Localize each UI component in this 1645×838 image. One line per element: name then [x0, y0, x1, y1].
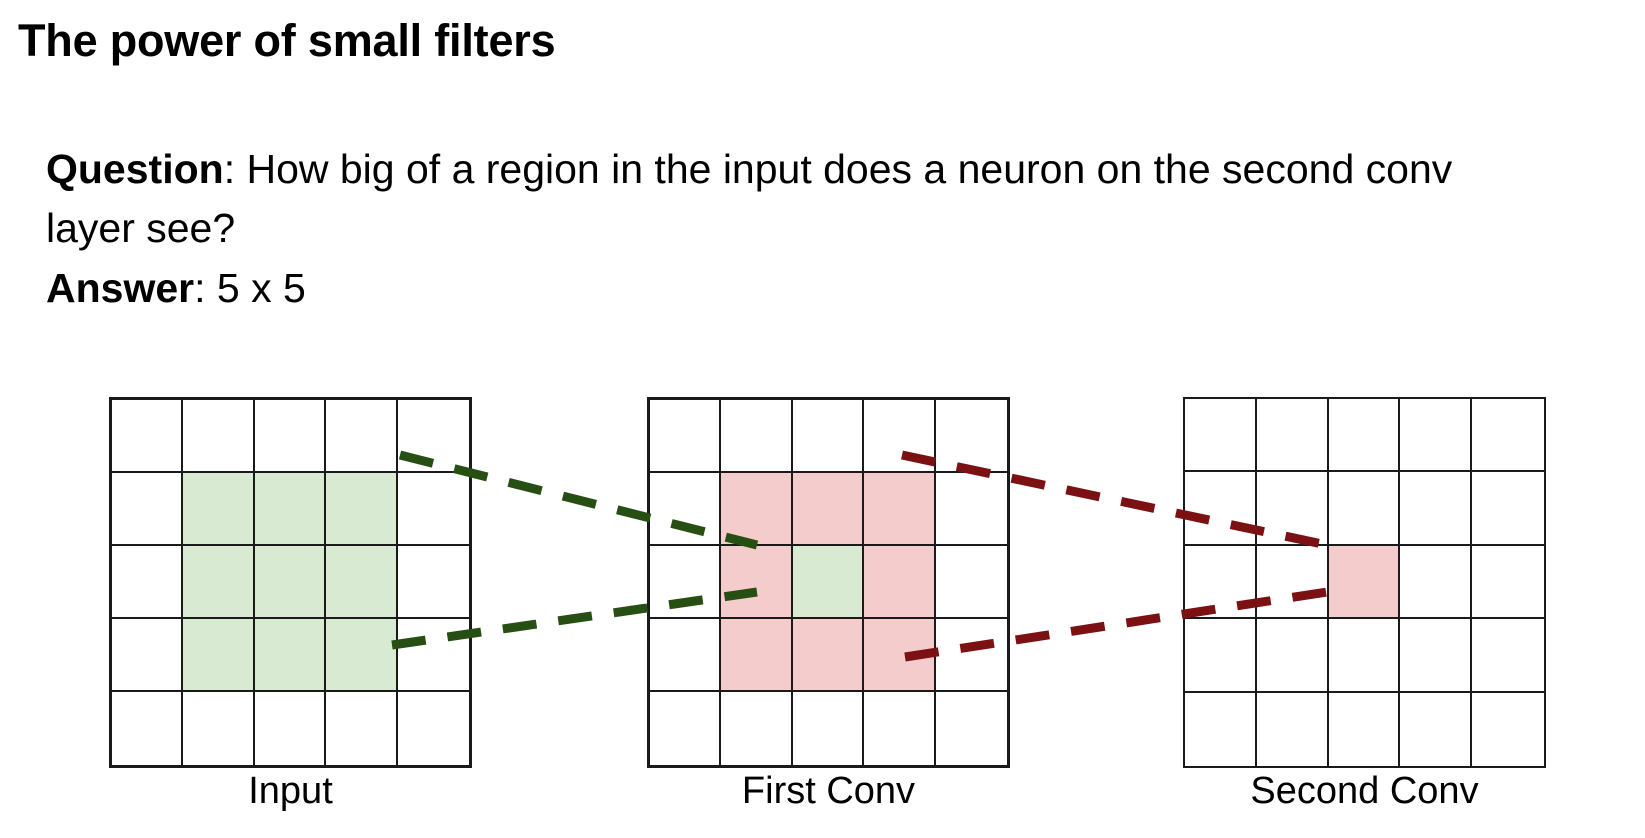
grid-cell: [326, 692, 397, 765]
grid-block-input: Input: [109, 397, 472, 822]
grid-cell: [112, 546, 183, 619]
grid-cell: [936, 692, 1007, 765]
grid-cell: [1472, 399, 1544, 472]
grid-input: [109, 397, 472, 768]
grid-cell: [183, 546, 254, 619]
grid-cell: [326, 546, 397, 619]
grid-cell: [398, 473, 469, 546]
grid-cell: [936, 546, 1007, 619]
grid-cell: [398, 546, 469, 619]
grid-cell: [1185, 546, 1257, 619]
grid-cell: [793, 692, 864, 765]
grid-cell: [1472, 619, 1544, 692]
grid-cell: [1185, 619, 1257, 692]
grid-cell: [255, 546, 326, 619]
grid-cell: [183, 473, 254, 546]
grid-cell: [864, 692, 935, 765]
grid-cell: [936, 400, 1007, 473]
grid-cell: [936, 619, 1007, 692]
grid-cell: [650, 400, 721, 473]
grid-cell: [183, 400, 254, 473]
grid-cell: [1257, 399, 1329, 472]
grid-cell: [326, 400, 397, 473]
grid-cell: [721, 619, 792, 692]
grid-cell: [1257, 619, 1329, 692]
grid-cell: [1400, 472, 1472, 545]
grid-first-conv: [647, 397, 1010, 768]
grid-cell: [650, 619, 721, 692]
grid-cell: [650, 546, 721, 619]
grid-cell: [1329, 546, 1401, 619]
grid-cell: [1472, 693, 1544, 766]
grid-cell: [1185, 399, 1257, 472]
grid-cell: [398, 400, 469, 473]
grid-cell: [793, 546, 864, 619]
grid-cell: [1185, 472, 1257, 545]
grid-cell: [1257, 472, 1329, 545]
grid-block-second-conv: Second Conv: [1183, 397, 1546, 822]
grid-cell: [1257, 693, 1329, 766]
grid-cell: [183, 619, 254, 692]
grid-cell: [721, 400, 792, 473]
grid-cell: [1257, 546, 1329, 619]
grid-cell: [721, 692, 792, 765]
grid-cell: [864, 619, 935, 692]
grid-cell: [398, 692, 469, 765]
grid-cell: [183, 692, 254, 765]
grid-label-input: Input: [109, 772, 472, 810]
grid-cell: [793, 473, 864, 546]
grid-cell: [112, 473, 183, 546]
grid-cell: [326, 473, 397, 546]
grid-cell: [650, 692, 721, 765]
grid-cell: [112, 619, 183, 692]
grid-cell: [1400, 619, 1472, 692]
grid-cell: [1329, 399, 1401, 472]
grid-cell: [1329, 619, 1401, 692]
grid-second-conv: [1183, 397, 1546, 768]
grid-cell: [1400, 399, 1472, 472]
grid-cell: [936, 473, 1007, 546]
grid-cell: [112, 692, 183, 765]
grid-cell: [650, 473, 721, 546]
grid-cell: [255, 473, 326, 546]
grid-cell: [1400, 693, 1472, 766]
grid-cell: [255, 400, 326, 473]
grid-cell: [255, 619, 326, 692]
grid-cell: [793, 400, 864, 473]
grid-cell: [721, 546, 792, 619]
grid-cell: [864, 400, 935, 473]
grid-label-first-conv: First Conv: [647, 772, 1010, 810]
grid-cell: [255, 692, 326, 765]
grid-cell: [1472, 472, 1544, 545]
receptive-field-diagram: InputFirst ConvSecond Conv: [0, 0, 1645, 838]
grid-cell: [864, 546, 935, 619]
grid-cell: [112, 400, 183, 473]
grid-cell: [793, 619, 864, 692]
grid-cell: [1400, 546, 1472, 619]
grid-cell: [1472, 546, 1544, 619]
grid-label-second-conv: Second Conv: [1183, 772, 1546, 810]
grid-block-first-conv: First Conv: [647, 397, 1010, 822]
grid-cell: [1329, 693, 1401, 766]
grid-cell: [398, 619, 469, 692]
grid-cell: [1185, 693, 1257, 766]
grid-cell: [326, 619, 397, 692]
grid-cell: [1329, 472, 1401, 545]
grid-cell: [721, 473, 792, 546]
grid-cell: [864, 473, 935, 546]
